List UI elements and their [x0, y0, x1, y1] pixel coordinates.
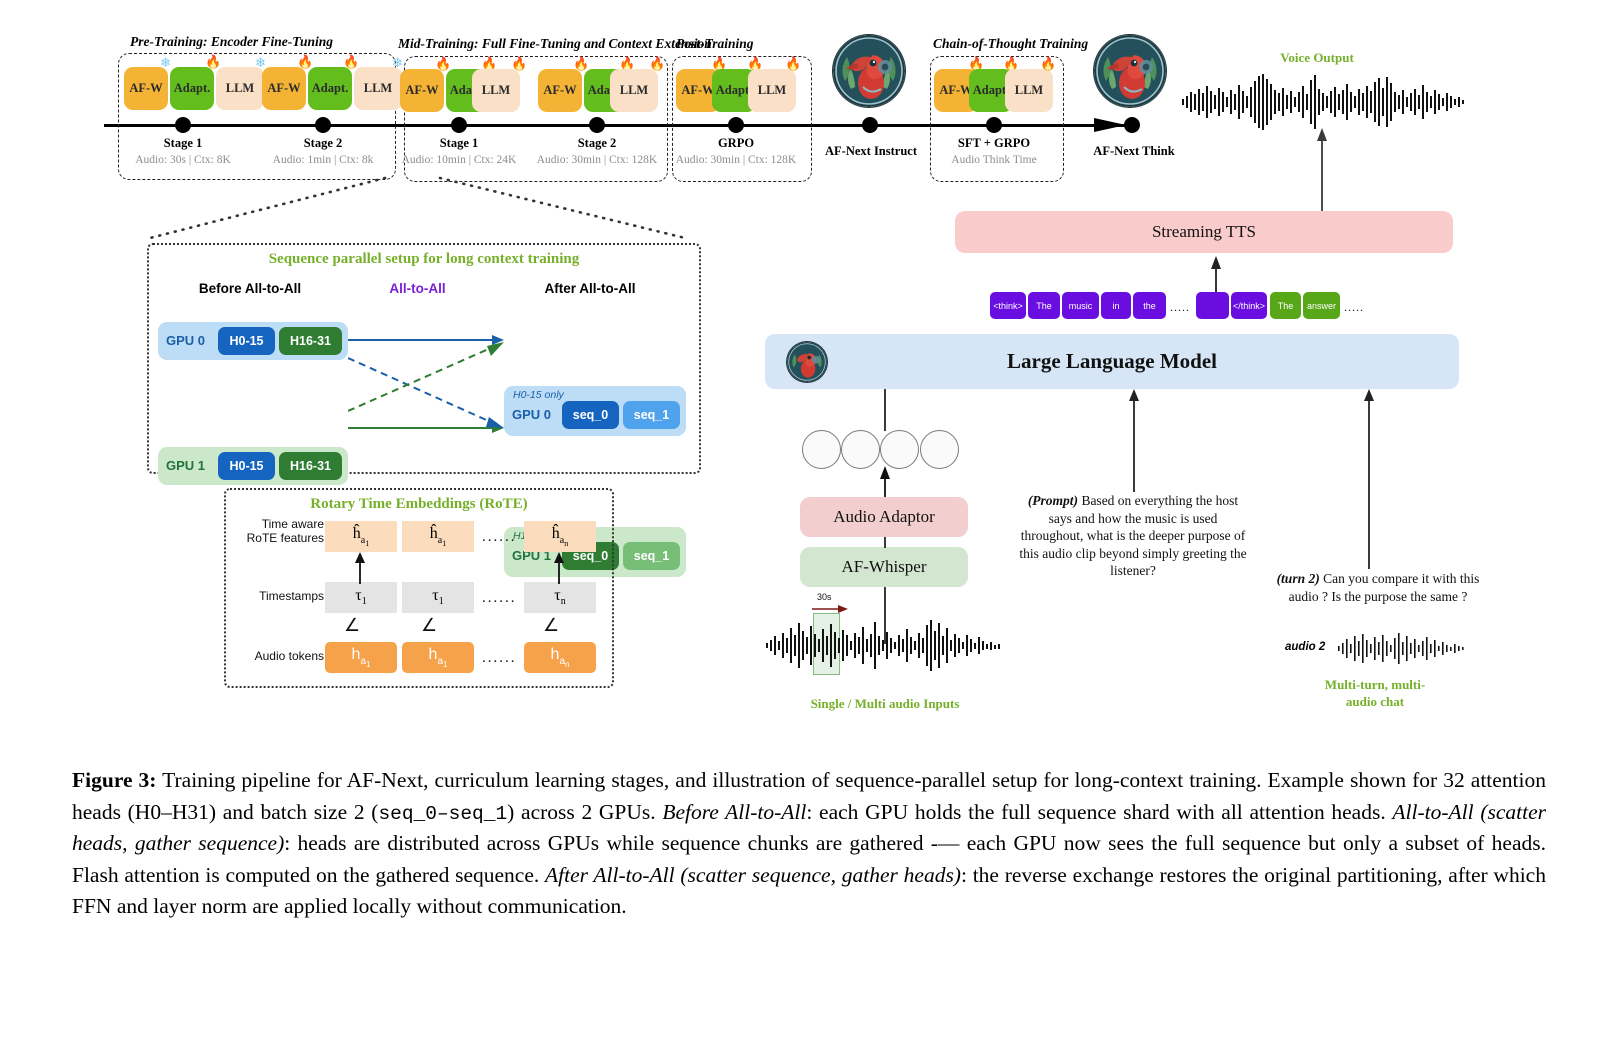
seq-chip-seq-1: seq_1 — [623, 542, 680, 570]
whisper-to-adaptor-line — [884, 537, 886, 548]
caption-part-2: ) across 2 GPUs. — [507, 800, 662, 824]
dotted-connector-left — [140, 176, 720, 246]
snowflake-icon: ❄ — [255, 56, 266, 69]
timeline-node — [315, 117, 331, 133]
module-adapter: Adapt. — [170, 67, 214, 110]
rote-timestamp-cell: τn — [524, 582, 596, 613]
fire-icon: 🔥 — [1040, 57, 1056, 70]
stage-name: Stage 2 — [537, 136, 657, 151]
token-word: music — [1062, 292, 1099, 319]
token-ellipsis: ..... — [1170, 300, 1190, 315]
stage-name: SFT + GRPO — [934, 136, 1054, 151]
turn2-arrow-up — [1361, 389, 1377, 403]
column-header-after: After All-to-All — [495, 281, 685, 296]
rote-audio-token-cell: han — [524, 642, 596, 673]
sequence-parallel-title: Sequence parallel setup for long context… — [157, 251, 691, 268]
tts-to-voice-arrow — [1312, 128, 1332, 213]
voice-output-waveform — [1182, 72, 1468, 132]
figure-caption: Figure 3: Training pipeline for AF-Next,… — [72, 765, 1546, 923]
rote-angle-icon: ∠ — [421, 615, 437, 636]
gpu-card-after-0: H0-15 only GPU 0 seq_0 seq_1 — [504, 386, 686, 436]
stage-name: Stage 1 — [399, 136, 519, 151]
audio-adaptor-label: Audio Adaptor — [833, 507, 935, 527]
stage-name: Stage 1 — [123, 136, 243, 151]
snowflake-icon: ❄ — [160, 56, 171, 69]
caption-italic-after: After All-to-All (scatter sequence, gath… — [545, 863, 961, 887]
phase-title-midtraining: Mid-Training: Full Fine-Tuning and Conte… — [398, 36, 712, 52]
token-ellipsis: ..... — [1344, 300, 1364, 315]
stage-sub: Audio: 1min | Ctx: 8k — [253, 154, 393, 166]
llm-flamingo-emblem — [787, 342, 827, 382]
rote-feature-cell: ĥa1 — [325, 521, 397, 552]
rote-audio-token-cell: ha1 — [325, 642, 397, 673]
rote-feature-cell: ĥan — [524, 521, 596, 552]
timeline-node — [862, 117, 878, 133]
audio-embedding-circle — [841, 430, 880, 469]
stage-sub: Audio: 10min | Ctx: 24K — [389, 154, 529, 166]
prompt-tag: (Prompt) — [1028, 493, 1078, 508]
rote-timestamp-cell: τ1 — [325, 582, 397, 613]
fire-icon: 🔥 — [511, 57, 527, 70]
module-llm: LLM — [216, 67, 264, 110]
large-language-model-label: Large Language Model — [1007, 349, 1217, 374]
seq-chip-seq-1: seq_1 — [623, 401, 680, 429]
multiturn-label: Multi-turn, multi- audio chat — [1290, 677, 1460, 711]
fire-icon: 🔥 — [649, 57, 665, 70]
fire-icon: 🔥 — [785, 57, 801, 70]
rote-audio-token-cell: ha1 — [402, 642, 474, 673]
gpu-card-before-0: GPU 0 H0-15 H16-31 — [158, 322, 348, 360]
caption-code-seq: seq_0–seq_1 — [378, 803, 507, 825]
rote-row-label-tokens: Audio tokens — [232, 650, 324, 664]
token-answer-word: The — [1270, 292, 1301, 319]
prompt-arrow-up — [1126, 389, 1142, 403]
token-think-close: </think> — [1231, 292, 1267, 319]
stage-sub: Audio Think Time — [930, 154, 1058, 166]
token-blank — [1196, 292, 1229, 319]
stage-sub: Audio: 30min | Ctx: 128K — [524, 154, 670, 166]
stage-name: GRPO — [676, 136, 796, 151]
snowflake-icon: ❄ — [392, 56, 403, 69]
voice-output-label: Voice Output — [1212, 50, 1422, 67]
head-chip-h16-31: H16-31 — [279, 327, 342, 355]
stage-sub: Audio: 30s | Ctx: 8K — [113, 154, 253, 166]
streaming-tts-box: Streaming TTS — [955, 211, 1453, 253]
audio2-waveform — [1338, 632, 1468, 664]
prompt-to-llm-line — [1133, 392, 1135, 492]
head-chip-h0-15: H0-15 — [218, 452, 275, 480]
stage-name: Stage 2 — [263, 136, 383, 151]
large-language-model-box: Large Language Model — [765, 334, 1459, 389]
rote-title: Rotary Time Embeddings (RoTE) — [234, 496, 604, 513]
token-word: in — [1101, 292, 1131, 319]
prompt-text-block: (Prompt) Based on everything the host sa… — [1017, 492, 1249, 580]
af-next-think-emblem — [1094, 35, 1166, 107]
rote-ellipsis: ...... — [482, 650, 517, 667]
af-whisper-box: AF-Whisper — [800, 547, 968, 587]
seq-chip-seq-0: seq_0 — [562, 401, 619, 429]
audio-embedding-circle — [880, 430, 919, 469]
module-llm: LLM — [748, 69, 796, 112]
module-llm: LLM — [1005, 69, 1053, 112]
turn2-tag: (turn 2) — [1277, 571, 1320, 586]
embedding-to-llm-line — [884, 389, 886, 431]
gpu-card-before-1: GPU 1 H0-15 H16-31 — [158, 447, 348, 485]
timeline-node — [986, 117, 1002, 133]
rote-timestamp-cell: τ1 — [402, 582, 474, 613]
module-llm: LLM — [610, 69, 658, 112]
audio-adaptor-box: Audio Adaptor — [800, 497, 968, 537]
gpu-label: GPU 1 — [166, 458, 205, 473]
module-af-w: AF-W — [400, 69, 444, 112]
rote-angle-icon: ∠ — [543, 615, 559, 636]
module-llm: LLM — [472, 69, 520, 112]
adaptor-to-embedding-arrow — [877, 466, 893, 500]
token-answer-word: answer — [1303, 292, 1340, 319]
fire-icon: 🔥 — [205, 55, 221, 68]
streaming-tts-label: Streaming TTS — [1152, 222, 1256, 242]
head-subset-tag: H0-15 only — [513, 389, 564, 401]
rote-feature-cell: ĥa1 — [402, 521, 474, 552]
caption-part-3: : each GPU holds the full sequence shard… — [806, 800, 1392, 824]
timeline-node — [451, 117, 467, 133]
audio2-label: audio 2 — [1285, 641, 1325, 653]
rote-row-label-timestamps: Timestamps — [232, 590, 324, 604]
af-next-instruct-emblem — [833, 35, 905, 107]
stage-sub: Audio: 30min | Ctx: 128K — [663, 154, 809, 166]
phase-title-pretraining: Pre-Training: Encoder Fine-Tuning — [130, 34, 333, 50]
column-header-all-to-all: All-to-All — [340, 281, 495, 296]
audio-embedding-circle — [802, 430, 841, 469]
turn2-to-llm-line — [1368, 392, 1370, 569]
module-af-w: AF-W — [124, 67, 168, 110]
rote-ellipsis: ...... — [482, 590, 517, 607]
token-word: the — [1133, 292, 1166, 319]
rote-angle-icon: ∠ — [344, 615, 360, 636]
phase-title-posttraining: Post-Training — [676, 36, 754, 52]
rote-arrow-up — [352, 552, 368, 584]
milestone-label: AF-Next Instruct — [806, 144, 936, 159]
rote-row-label-features: Time awareRoTE features — [232, 518, 324, 546]
timeline-node — [589, 117, 605, 133]
fire-icon: 🔥 — [297, 55, 313, 68]
token-word: The — [1028, 292, 1060, 319]
turn2-text-block: (turn 2) Can you compare it with this au… — [1272, 570, 1484, 605]
milestone-label: AF-Next Think — [1069, 144, 1199, 159]
gpu-label: GPU 0 — [166, 333, 205, 348]
head-chip-h0-15: H0-15 — [218, 327, 275, 355]
af-whisper-label: AF-Whisper — [842, 557, 927, 577]
head-chip-h16-31: H16-31 — [279, 452, 342, 480]
audio-inputs-label: Single / Multi audio Inputs — [775, 696, 995, 713]
timeline-node — [728, 117, 744, 133]
fire-icon: 🔥 — [435, 57, 451, 70]
rote-arrow-up — [551, 552, 567, 584]
fire-icon: 🔥 — [343, 55, 359, 68]
module-af-w: AF-W — [262, 67, 306, 110]
column-header-before: Before All-to-All — [160, 281, 340, 296]
token-think-open: <think> — [990, 292, 1026, 319]
input-audio-waveform — [766, 617, 1002, 673]
module-adapter: Adapt. — [308, 67, 352, 110]
audio-embedding-circle — [920, 430, 959, 469]
caption-italic-before: Before All-to-All — [662, 800, 806, 824]
module-llm: LLM — [354, 67, 402, 110]
fire-icon: 🔥 — [573, 57, 589, 70]
window-duration-label: 30s — [817, 592, 832, 602]
rote-ellipsis: ...... — [482, 529, 517, 546]
timeline-node — [1124, 117, 1140, 133]
phase-title-cot: Chain-of-Thought Training — [933, 36, 1088, 52]
timeline-node — [175, 117, 191, 133]
caption-figure-number: Figure 3: — [72, 768, 156, 792]
gpu-label: GPU 0 — [512, 407, 551, 422]
module-af-w: AF-W — [538, 69, 582, 112]
all-to-all-arrows — [348, 315, 508, 455]
